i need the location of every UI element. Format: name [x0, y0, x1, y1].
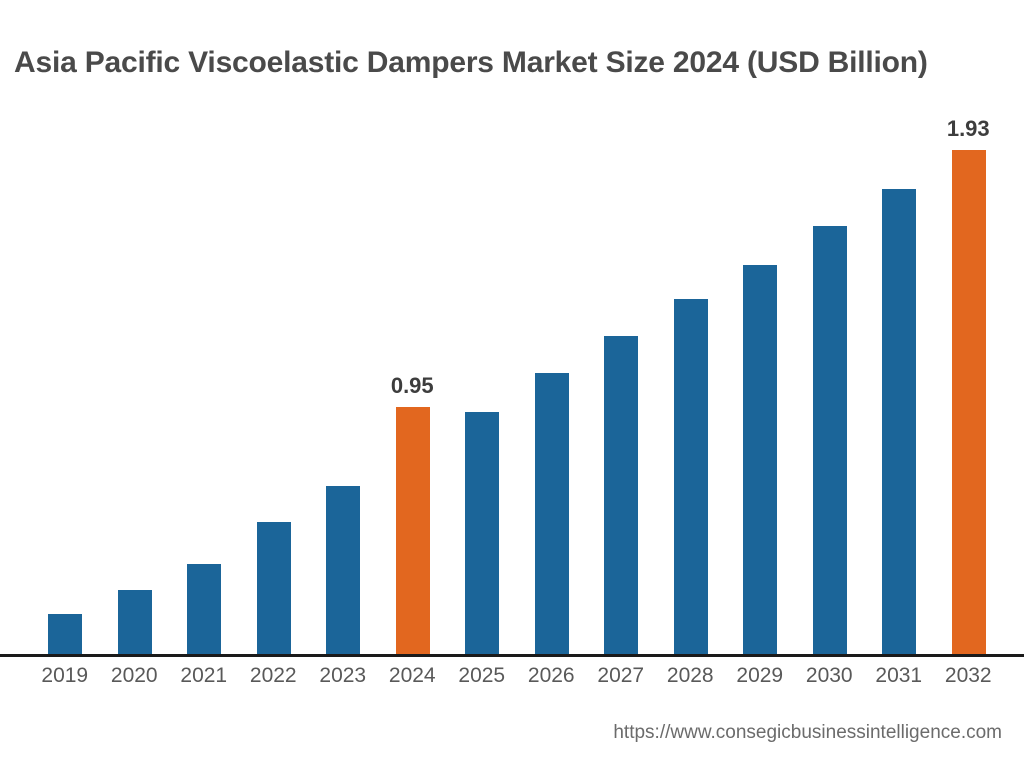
bar-2027[interactable]	[604, 336, 638, 656]
x-tick-label-2019: 2019	[30, 664, 100, 688]
bar-2031[interactable]	[882, 189, 916, 656]
plot-area: 0.951.93	[0, 100, 1024, 656]
bar-group-2024[interactable]: 0.95	[378, 100, 448, 656]
x-tick-label-2032: 2032	[934, 664, 1004, 688]
bar-group-2026[interactable]	[517, 100, 587, 656]
x-tick-label-2027: 2027	[586, 664, 656, 688]
x-tick-label-2025: 2025	[447, 664, 517, 688]
x-axis-line	[0, 654, 1024, 657]
bar-group-2021[interactable]	[169, 100, 239, 656]
bar-2026[interactable]	[535, 373, 569, 656]
bar-2032[interactable]	[952, 150, 986, 656]
x-tick-label-2023: 2023	[308, 664, 378, 688]
bar-group-2030[interactable]	[795, 100, 865, 656]
bar-group-2028[interactable]	[656, 100, 726, 656]
x-tick-label-2020: 2020	[100, 664, 170, 688]
bar-group-2019[interactable]	[30, 100, 100, 656]
x-tick-label-2026: 2026	[517, 664, 587, 688]
x-tick-label-2021: 2021	[169, 664, 239, 688]
bar-2023[interactable]	[326, 486, 360, 656]
bar-group-2025[interactable]	[447, 100, 517, 656]
source-url: https://www.consegicbusinessintelligence…	[613, 722, 1002, 744]
bar-2029[interactable]	[743, 265, 777, 656]
chart-title: Asia Pacific Viscoelastic Dampers Market…	[14, 46, 1014, 80]
bar-value-label-2032: 1.93	[934, 116, 1004, 142]
x-tick-label-2031: 2031	[864, 664, 934, 688]
bar-group-2031[interactable]	[864, 100, 934, 656]
bar-group-2020[interactable]	[100, 100, 170, 656]
bar-2030[interactable]	[813, 226, 847, 656]
bar-2028[interactable]	[674, 299, 708, 656]
bar-chart: Asia Pacific Viscoelastic Dampers Market…	[0, 0, 1024, 768]
x-tick-label-2024: 2024	[378, 664, 448, 688]
bar-2025[interactable]	[465, 412, 499, 656]
bar-2021[interactable]	[187, 564, 221, 656]
bar-group-2022[interactable]	[239, 100, 309, 656]
bar-2024[interactable]	[396, 407, 430, 656]
bar-group-2027[interactable]	[586, 100, 656, 656]
x-tick-label-2029: 2029	[725, 664, 795, 688]
bar-group-2023[interactable]	[308, 100, 378, 656]
bar-group-2029[interactable]	[725, 100, 795, 656]
bar-2022[interactable]	[257, 522, 291, 656]
bar-2020[interactable]	[118, 590, 152, 656]
x-tick-label-2030: 2030	[795, 664, 865, 688]
x-tick-label-2022: 2022	[239, 664, 309, 688]
x-axis-labels: 2019202020212022202320242025202620272028…	[0, 664, 1024, 698]
bar-value-label-2024: 0.95	[378, 373, 448, 399]
x-tick-label-2028: 2028	[656, 664, 726, 688]
bar-2019[interactable]	[48, 614, 82, 656]
bar-group-2032[interactable]: 1.93	[934, 100, 1004, 656]
